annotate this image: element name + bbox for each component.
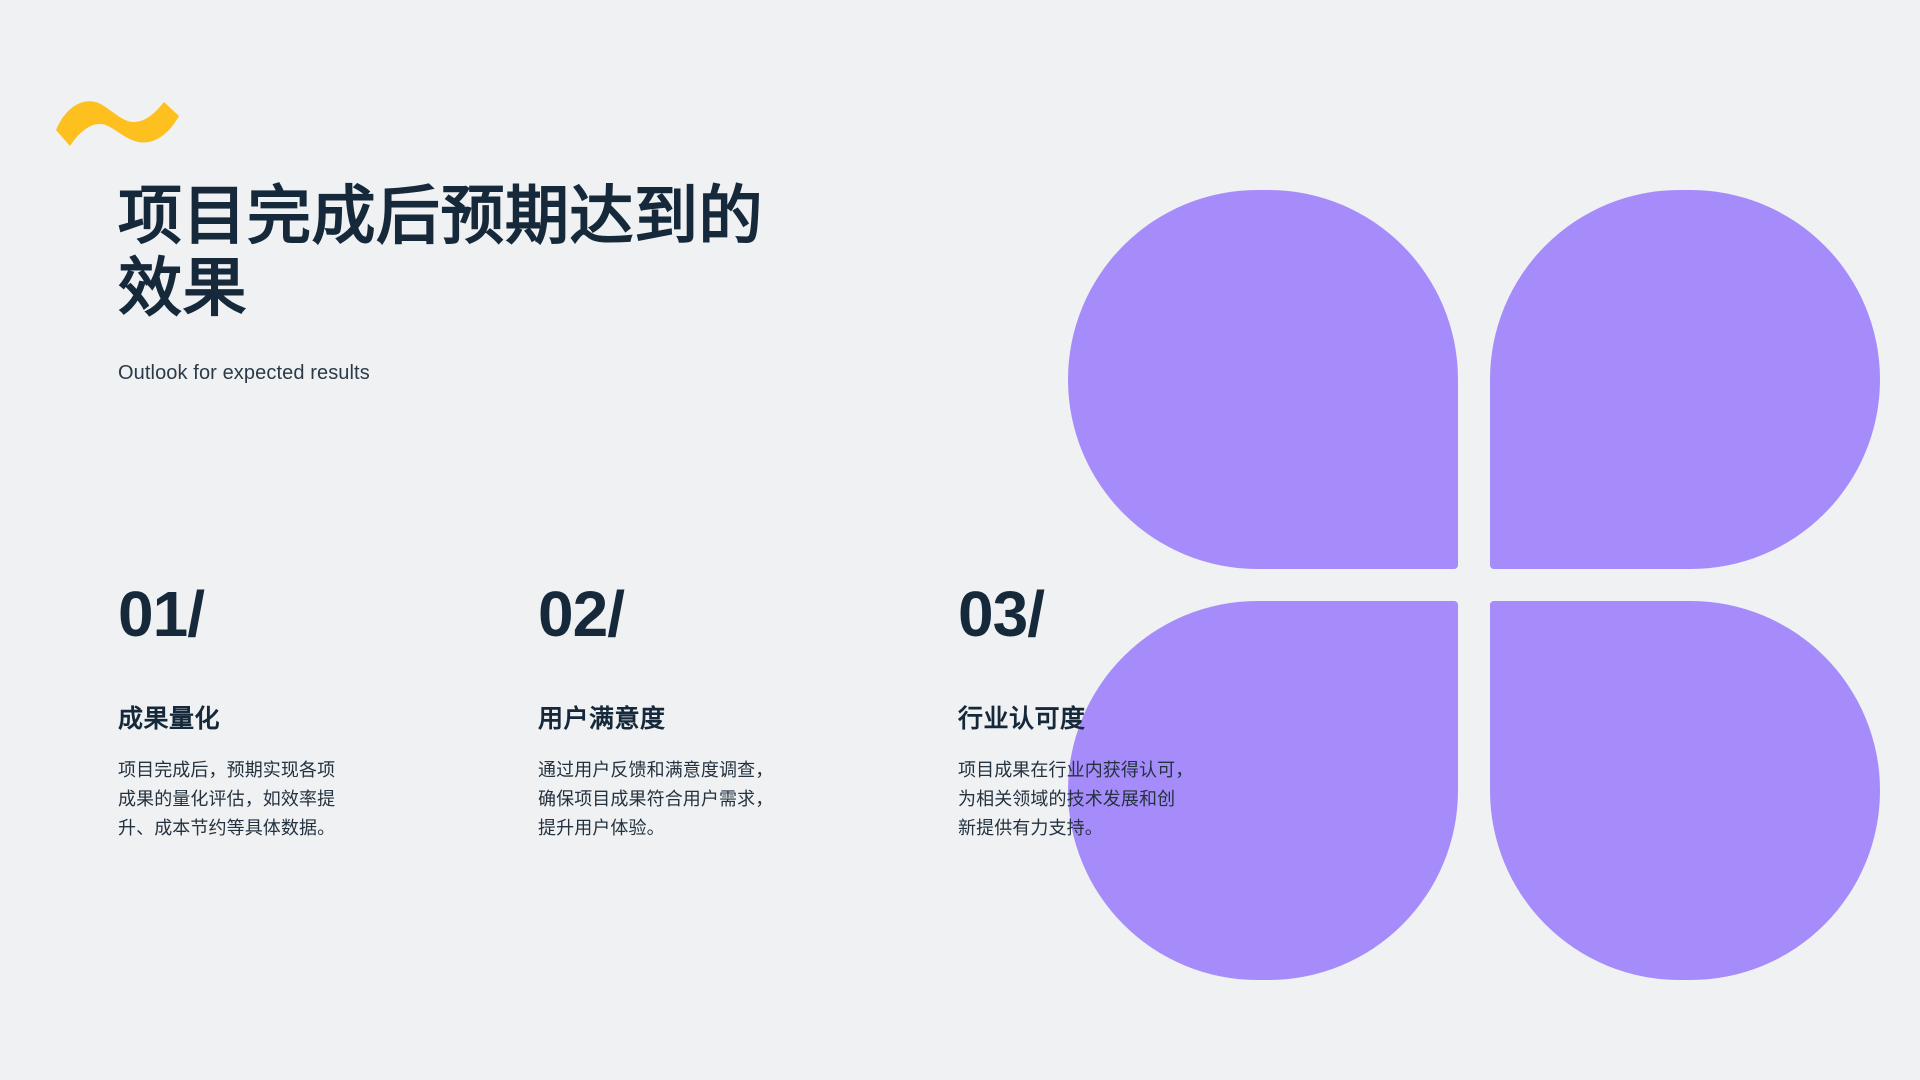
slide-canvas: 项目完成后预期达到的 效果 Outlook for expected resul… (0, 0, 1920, 1080)
clover-petal-bottom-right (1490, 601, 1880, 980)
header-block: 项目完成后预期达到的 效果 Outlook for expected resul… (118, 180, 878, 387)
point-title: 行业认可度 (958, 704, 1258, 734)
list-item: 01/ 成果量化 项目完成后，预期实现各项 成果的量化评估，如效率提 升、成本节… (118, 582, 418, 843)
point-body: 项目完成后，预期实现各项 成果的量化评估，如效率提 升、成本节约等具体数据。 (118, 756, 418, 843)
points-list: 01/ 成果量化 项目完成后，预期实现各项 成果的量化评估，如效率提 升、成本节… (118, 582, 1278, 843)
wave-tilde-icon (52, 96, 182, 148)
point-title: 成果量化 (118, 704, 418, 734)
clover-petal-top-right (1490, 190, 1880, 569)
point-number: 03/ (958, 582, 1258, 646)
clover-petal-top-left (1068, 190, 1458, 569)
page-title: 项目完成后预期达到的 效果 (118, 180, 878, 325)
list-item: 03/ 行业认可度 项目成果在行业内获得认可， 为相关领域的技术发展和创 新提供… (958, 582, 1258, 843)
page-subtitle: Outlook for expected results (118, 359, 878, 387)
point-body: 项目成果在行业内获得认可， 为相关领域的技术发展和创 新提供有力支持。 (958, 756, 1258, 843)
list-item: 02/ 用户满意度 通过用户反馈和满意度调查， 确保项目成果符合用户需求， 提升… (538, 582, 838, 843)
point-number: 02/ (538, 582, 838, 646)
point-number: 01/ (118, 582, 418, 646)
point-body: 通过用户反馈和满意度调查， 确保项目成果符合用户需求， 提升用户体验。 (538, 756, 838, 843)
point-title: 用户满意度 (538, 704, 838, 734)
